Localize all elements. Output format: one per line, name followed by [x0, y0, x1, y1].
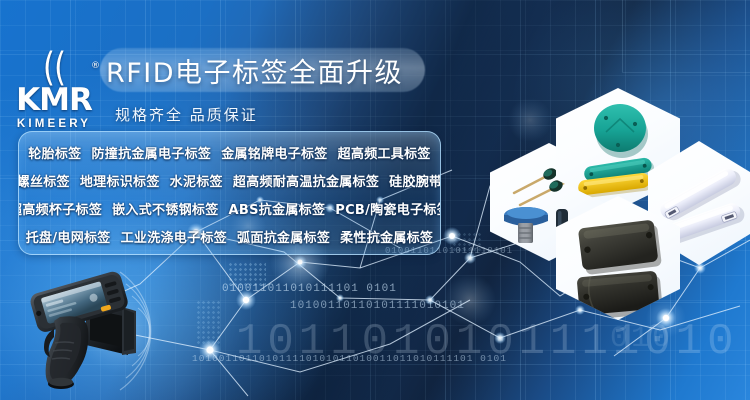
kimeery-logo[interactable]: ((KMR® KIMEERY — [12, 52, 96, 104]
logo-mark: ((KMR® — [12, 52, 96, 116]
registered-trademark-icon: ® — [91, 50, 100, 82]
tag-item[interactable]: 水泥标签 — [165, 171, 228, 190]
tag-item[interactable]: 托盘/电网标签 — [21, 227, 116, 246]
product-hexagon-abs-tags[interactable] — [556, 196, 680, 320]
tag-item[interactable]: 地理标识标签 — [75, 171, 165, 190]
abs-anti-metal-tags-image — [556, 196, 680, 320]
tag-list-row: 托盘/电网标签 工业洗涤电子标签 弧面抗金属标签 柔性抗金属标签 — [19, 222, 440, 250]
tag-item[interactable]: 嵌入式不锈钢标签 — [107, 199, 223, 218]
tag-list-row: 超高频杯子标签 嵌入式不锈钢标签 ABS抗金属标签 PCB/陶瓷电子标签 — [19, 194, 440, 222]
accent-line-top — [622, 0, 623, 72]
logo-arc-glyph: (( — [43, 48, 65, 88]
tag-item[interactable]: 柔性抗金属标签 — [335, 227, 438, 246]
tag-list-row: 螺丝标签 地理标识标签 水泥标签 超高频耐高温抗金属标签 硅胶腕带 — [19, 166, 440, 194]
tag-item[interactable]: 超高频耐高温抗金属标签 — [228, 171, 384, 190]
tag-item[interactable]: ABS抗金属标签 — [224, 199, 331, 218]
logo-wordmark: KIMEERY — [12, 118, 96, 130]
page-title: RFID电子标签全面升级 — [106, 49, 426, 91]
tag-item[interactable]: PCB/陶瓷电子标签 — [330, 199, 441, 218]
product-tag-list-panel: 轮胎标签 防撞抗金属电子标签 金属铭牌电子标签 超高频工具标签 螺丝标签 地理标… — [18, 131, 441, 255]
accent-line-right — [622, 72, 750, 73]
rfid-promo-banner: 010011011010111101 0101 1010011011010111… — [0, 0, 750, 400]
tag-list-row: 轮胎标签 防撞抗金属电子标签 金属铭牌电子标签 超高频工具标签 — [19, 138, 440, 166]
tag-item[interactable]: 超高频工具标签 — [333, 143, 436, 162]
tag-item[interactable]: 弧面抗金属标签 — [232, 227, 335, 246]
tag-item[interactable]: 金属铭牌电子标签 — [216, 143, 332, 162]
tag-item[interactable]: 硅胶腕带 — [384, 171, 441, 190]
handheld-rfid-reader-image — [24, 263, 164, 395]
hexagon-shape — [556, 196, 680, 320]
tag-item[interactable]: 螺丝标签 — [18, 171, 75, 190]
page-subtitle: 规格齐全 品质保证 — [115, 104, 258, 125]
handheld-rfid-reader[interactable] — [24, 263, 164, 395]
tag-item[interactable]: 防撞抗金属电子标签 — [86, 143, 216, 162]
tag-item[interactable]: 超高频杯子标签 — [18, 199, 107, 218]
tag-item[interactable]: 工业洗涤电子标签 — [116, 227, 232, 246]
tag-item[interactable]: 轮胎标签 — [23, 143, 86, 162]
